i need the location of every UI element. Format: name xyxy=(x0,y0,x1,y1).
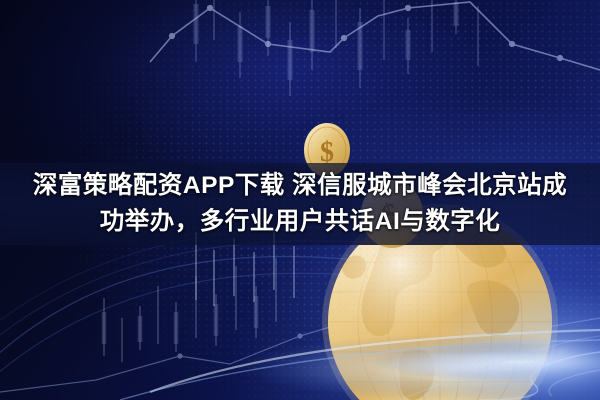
candlestick-bars-bottom xyxy=(104,258,276,362)
headline: 深富策略配资APP下载 深信服城市峰会北京站成 功举办，多行业用户共话AI与数字… xyxy=(0,163,600,245)
trend-polyline xyxy=(150,2,600,70)
promo-banner: $ $ 深富策 xyxy=(0,0,600,400)
headline-line-1: 深富策略配资APP下载 深信服城市峰会北京站成 xyxy=(33,169,567,203)
headline-line-2: 功举办，多行业用户共话AI与数字化 xyxy=(100,205,501,239)
candlestick-bars-top xyxy=(196,0,478,96)
